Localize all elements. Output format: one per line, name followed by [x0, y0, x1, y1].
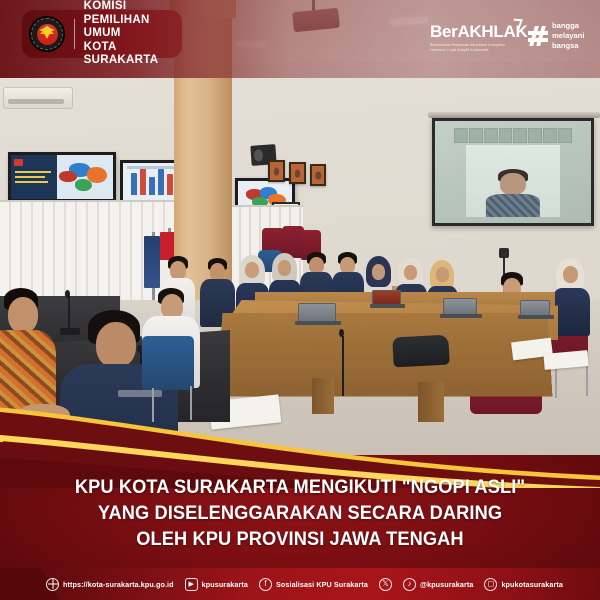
footer-item-tiktok[interactable]: ♪ @kpusurakarta	[403, 578, 473, 591]
caption-line-3: OLEH KPU PROVINSI JAWA TENGAH	[12, 527, 588, 553]
instagram-handle: kpukotasurakarta	[501, 580, 563, 589]
tiktok-icon: ♪	[403, 578, 416, 591]
projector-screen	[432, 118, 594, 226]
laptop	[372, 290, 404, 310]
bangga-line2: melayani	[552, 31, 585, 41]
tiktok-handle: @kpusurakarta	[420, 580, 473, 589]
org-name: KOMISI PEMILIHAN UMUM KOTA SURAKARTA	[84, 0, 182, 68]
facebook-handle: Sosialisasi KPU Surakarta	[276, 580, 368, 589]
backpack	[392, 335, 449, 368]
vc-main-speaker	[466, 145, 560, 216]
social-footer: https://kota-surakarta.kpu.go.id ▶ kpusu…	[0, 568, 600, 600]
globe-icon	[46, 578, 59, 591]
facebook-icon: f	[259, 578, 272, 591]
berakhlak-logo: BerAKHLAK Berorientasi Pelayanan Akuntab…	[430, 22, 512, 53]
official-portrait	[310, 164, 326, 186]
youtube-icon: ▶	[185, 578, 198, 591]
laptop	[520, 300, 554, 320]
framed-map-poster	[8, 152, 116, 202]
caption-line-1: KPU KOTA SURAKARTA MENGIKUTI "NGOPI ASLI…	[12, 475, 588, 501]
footer-item-youtube[interactable]: ▶ kpusurakarta	[185, 578, 248, 591]
footer-item-instagram[interactable]: ◻ kpukotasurakarta	[484, 578, 563, 591]
bangga-line1: bangga	[552, 21, 585, 31]
meeting-chair	[142, 336, 194, 390]
laptop	[443, 298, 481, 320]
berakhlak-subtitle: Berorientasi Pelayanan Akuntabel Kompete…	[430, 43, 512, 53]
website-url: https://kota-surakarta.kpu.go.id	[63, 580, 174, 589]
footer-item-facebook[interactable]: f Sosialisasi KPU Surakarta	[259, 578, 368, 591]
official-portrait	[268, 160, 285, 182]
caption-line-2: YANG DISELENGGARAKAN SECARA DARING	[12, 501, 588, 527]
laptop	[298, 303, 340, 327]
x-twitter-icon: 𝕏	[379, 578, 392, 591]
kpu-logo-block: KOMISI PEMILIHAN UMUM KOTA SURAKARTA	[22, 10, 182, 58]
org-name-line1: KOMISI PEMILIHAN UMUM	[84, 0, 182, 41]
bangga-text: bangga melayani bangsa	[552, 21, 585, 51]
footer-item-x[interactable]: 𝕏	[379, 578, 392, 591]
caption-text: KPU KOTA SURAKARTA MENGIKUTI "NGOPI ASLI…	[0, 475, 600, 554]
instagram-icon: ◻	[484, 578, 497, 591]
bangga-line3: bangsa	[552, 41, 585, 51]
logo-divider	[74, 19, 75, 49]
flag-blue	[144, 236, 160, 288]
poster-root: KOMISI PEMILIHAN UMUM KOTA SURAKARTA Ber…	[0, 0, 600, 600]
poster-header: KOMISI PEMILIHAN UMUM KOTA SURAKARTA Ber…	[0, 0, 600, 78]
hashtag-icon	[528, 26, 548, 46]
conference-table	[218, 313, 553, 397]
air-conditioner	[3, 87, 73, 109]
bangga-melayani-bangsa-logo: bangga melayani bangsa	[528, 21, 585, 51]
kpu-garuda-logo-icon	[29, 16, 65, 52]
vc-participant-strip	[454, 128, 573, 143]
official-portrait	[289, 162, 306, 184]
org-name-line2: KOTA SURAKARTA	[84, 41, 182, 68]
youtube-handle: kpusurakarta	[202, 580, 248, 589]
footer-item-website[interactable]: https://kota-surakarta.kpu.go.id	[46, 578, 174, 591]
